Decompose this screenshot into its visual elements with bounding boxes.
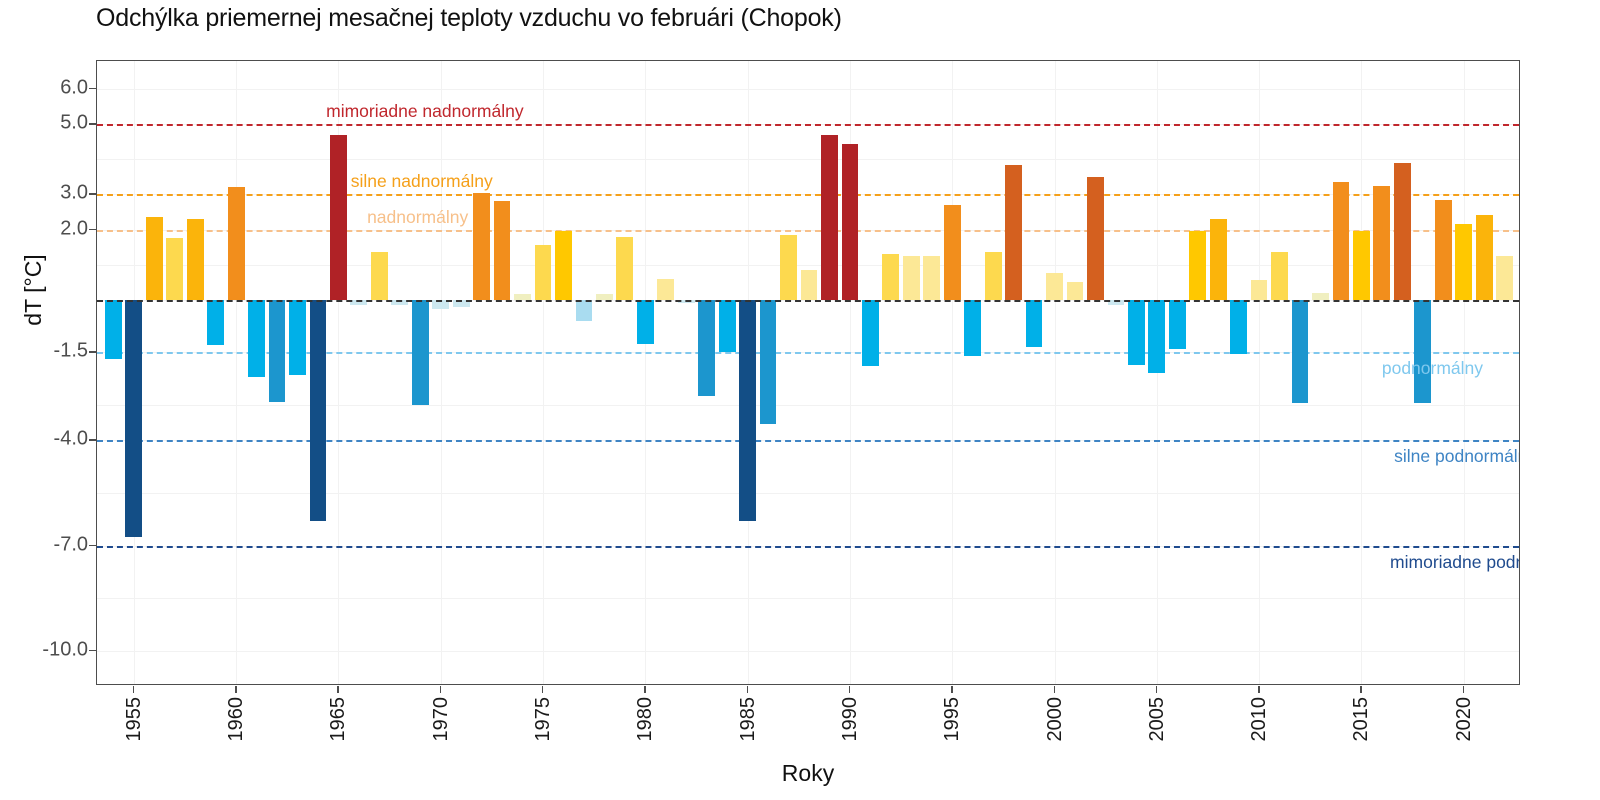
bar-1987 — [780, 235, 797, 300]
gridline-vertical — [952, 61, 953, 684]
bar-1972 — [473, 193, 490, 300]
x-tick-mark-11 — [1258, 686, 1259, 693]
x-tick-label-1: 1960 — [225, 697, 248, 742]
threshold-label-5: mimoriadne podnormálny — [1390, 552, 1520, 573]
gridline-horizontal — [97, 265, 1519, 266]
x-tick-label-5: 1980 — [634, 697, 657, 742]
bar-2020 — [1455, 224, 1472, 299]
x-tick-mark-8 — [951, 686, 952, 693]
bar-1965 — [330, 135, 347, 300]
bar-1993 — [903, 256, 920, 300]
x-tick-label-8: 1995 — [941, 697, 964, 742]
bar-1954 — [105, 300, 122, 360]
plot-panel: mimoriadne nadnormálnysilne nadnormálnyn… — [96, 60, 1520, 685]
x-tick-mark-6 — [747, 686, 748, 693]
bar-1981 — [657, 279, 674, 300]
threshold-line-0 — [97, 124, 1519, 126]
y-tick-mark-4 — [89, 351, 96, 352]
bar-1962 — [269, 300, 286, 402]
x-tick-mark-0 — [133, 686, 134, 693]
bar-1996 — [964, 300, 981, 356]
threshold-label-4: silne podnormálny — [1394, 446, 1520, 467]
bar-1989 — [821, 135, 838, 300]
bar-2022 — [1496, 256, 1513, 300]
bar-1995 — [944, 205, 961, 300]
bar-1985 — [739, 300, 756, 521]
x-tick-mark-2 — [337, 686, 338, 693]
bar-2011 — [1271, 252, 1288, 299]
y-tick-label-6: -7.0 — [0, 533, 88, 556]
bar-2006 — [1169, 300, 1186, 349]
bar-1958 — [187, 219, 204, 300]
bar-2012 — [1292, 300, 1309, 404]
bar-1975 — [535, 245, 552, 299]
bar-1967 — [371, 252, 388, 299]
bar-1980 — [637, 300, 654, 344]
bar-2017 — [1394, 163, 1411, 300]
zero-line — [97, 300, 1519, 302]
bar-2010 — [1251, 280, 1268, 299]
x-tick-label-9: 2000 — [1044, 697, 1067, 742]
x-tick-mark-4 — [542, 686, 543, 693]
gridline-vertical — [645, 61, 646, 684]
bar-1955 — [125, 300, 142, 537]
bar-1979 — [616, 237, 633, 300]
bar-2018 — [1414, 300, 1431, 404]
gridline-horizontal — [97, 159, 1519, 160]
bar-1983 — [698, 300, 715, 397]
x-tick-label-12: 2015 — [1350, 697, 1373, 742]
bar-2021 — [1476, 215, 1493, 299]
bar-2002 — [1087, 177, 1104, 300]
x-tick-label-4: 1975 — [532, 697, 555, 742]
x-tick-mark-10 — [1156, 686, 1157, 693]
bar-1990 — [842, 144, 859, 300]
x-tick-mark-12 — [1360, 686, 1361, 693]
bar-2008 — [1210, 219, 1227, 300]
x-tick-label-7: 1990 — [839, 697, 862, 742]
bar-1976 — [555, 231, 572, 299]
gridline-horizontal — [97, 651, 1519, 652]
gridline-vertical — [1055, 61, 1056, 684]
y-tick-mark-0 — [89, 88, 96, 89]
bar-1986 — [760, 300, 777, 425]
gridline-horizontal — [97, 598, 1519, 599]
bar-1963 — [289, 300, 306, 375]
y-tick-label-3: 2.0 — [0, 217, 88, 240]
bar-1992 — [882, 254, 899, 300]
x-tick-label-3: 1970 — [430, 697, 453, 742]
gridline-vertical — [236, 61, 237, 684]
bar-1957 — [166, 238, 183, 299]
threshold-label-2: nadnormálny — [367, 207, 468, 228]
bar-1997 — [985, 252, 1002, 299]
x-tick-mark-7 — [849, 686, 850, 693]
bar-2013 — [1312, 293, 1329, 300]
bar-1998 — [1005, 165, 1022, 300]
bar-2016 — [1373, 186, 1390, 300]
bar-1961 — [248, 300, 265, 377]
page-title: Odchýlka priemernej mesačnej teploty vzd… — [96, 4, 842, 33]
y-tick-label-4: -1.5 — [0, 340, 88, 363]
y-tick-mark-5 — [89, 439, 96, 440]
x-axis-title: Roky — [96, 760, 1520, 787]
x-tick-mark-13 — [1463, 686, 1464, 693]
y-tick-label-1: 5.0 — [0, 112, 88, 135]
y-tick-label-7: -10.0 — [0, 638, 88, 661]
chart-root: Odchýlka priemernej mesačnej teploty vzd… — [0, 0, 1600, 800]
threshold-line-5 — [97, 546, 1519, 548]
x-tick-label-13: 2020 — [1453, 697, 1476, 742]
bar-1977 — [576, 300, 593, 321]
bar-1991 — [862, 300, 879, 367]
gridline-vertical — [1259, 61, 1260, 684]
x-tick-label-10: 2005 — [1146, 697, 1169, 742]
x-tick-mark-3 — [440, 686, 441, 693]
x-tick-mark-5 — [644, 686, 645, 693]
bar-2015 — [1353, 231, 1370, 299]
bar-2014 — [1333, 182, 1350, 300]
bar-1973 — [494, 201, 511, 299]
bar-1956 — [146, 217, 163, 300]
gridline-vertical — [543, 61, 544, 684]
threshold-label-1: silne nadnormálny — [351, 171, 493, 192]
gridline-vertical — [441, 61, 442, 684]
y-tick-mark-3 — [89, 229, 96, 230]
threshold-line-1 — [97, 194, 1519, 196]
y-tick-mark-1 — [89, 123, 96, 124]
bar-2000 — [1046, 273, 1063, 299]
y-tick-mark-2 — [89, 193, 96, 194]
threshold-label-0: mimoriadne nadnormálny — [326, 101, 523, 122]
x-tick-mark-9 — [1054, 686, 1055, 693]
bar-1994 — [923, 256, 940, 300]
threshold-line-2 — [97, 230, 1519, 232]
bar-2007 — [1189, 231, 1206, 299]
gridline-horizontal — [97, 89, 1519, 90]
x-tick-label-11: 2010 — [1248, 697, 1271, 742]
y-tick-mark-6 — [89, 545, 96, 546]
bar-1960 — [228, 187, 245, 299]
bar-2004 — [1128, 300, 1145, 365]
bar-2005 — [1148, 300, 1165, 374]
bar-1959 — [207, 300, 224, 346]
y-tick-label-0: 6.0 — [0, 77, 88, 100]
bar-2019 — [1435, 200, 1452, 300]
bar-1999 — [1026, 300, 1043, 347]
x-tick-mark-1 — [235, 686, 236, 693]
bar-1964 — [310, 300, 327, 521]
bar-1969 — [412, 300, 429, 405]
threshold-label-3: podnormálny — [1382, 358, 1483, 379]
bar-2001 — [1067, 282, 1084, 300]
x-tick-label-0: 1955 — [123, 697, 146, 742]
bar-1984 — [719, 300, 736, 353]
gridline-vertical — [1361, 61, 1362, 684]
y-tick-label-2: 3.0 — [0, 182, 88, 205]
y-tick-label-5: -4.0 — [0, 428, 88, 451]
x-tick-label-6: 1985 — [737, 697, 760, 742]
bar-2009 — [1230, 300, 1247, 354]
y-tick-mark-7 — [89, 650, 96, 651]
bar-1988 — [801, 270, 818, 300]
x-tick-label-2: 1965 — [327, 697, 350, 742]
